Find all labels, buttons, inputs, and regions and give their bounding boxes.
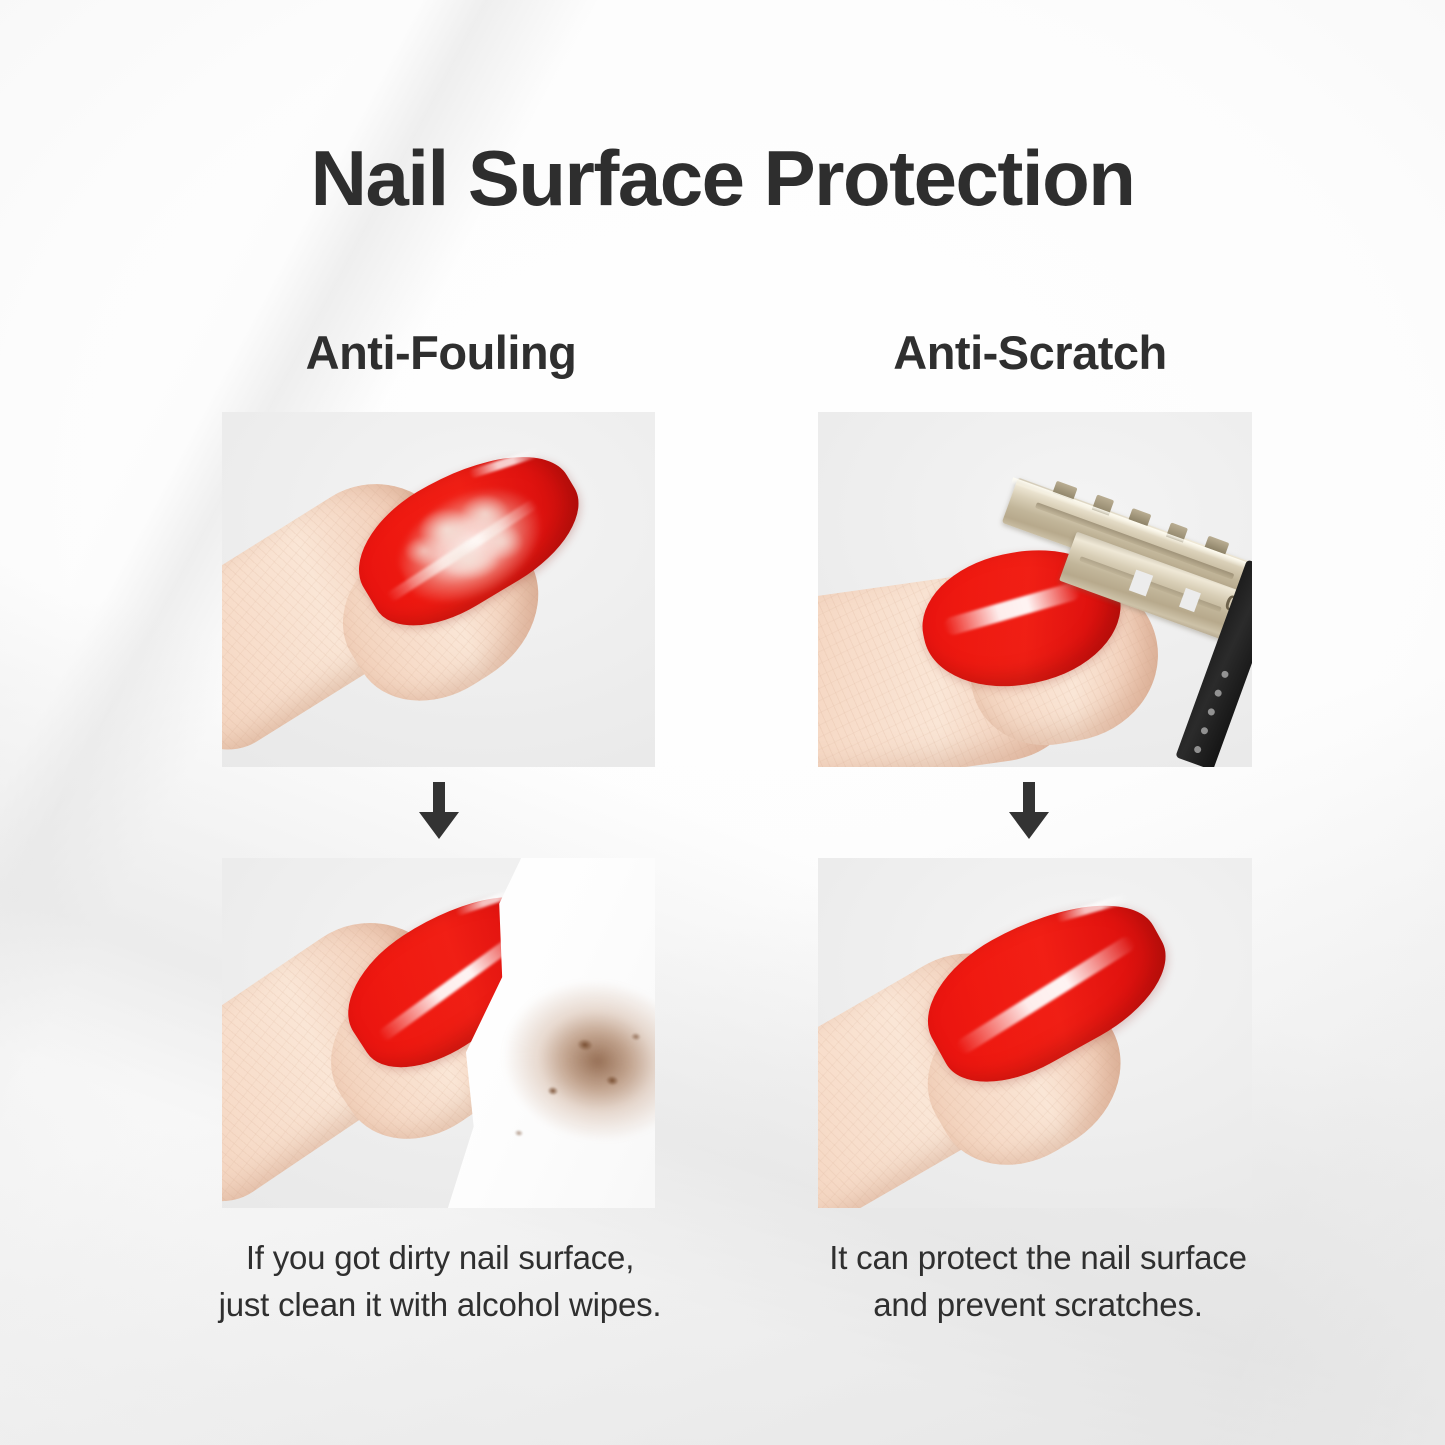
photo-anti-scratch-before: 100 — [818, 412, 1252, 767]
photo-anti-scratch-after — [818, 858, 1252, 1208]
column-heading-anti-fouling: Anti-Fouling — [181, 325, 701, 380]
caption-line: and prevent scratches. — [748, 1282, 1328, 1329]
caption-anti-fouling: If you got dirty nail surface, just clea… — [150, 1235, 730, 1329]
caption-line: just clean it with alcohol wipes. — [150, 1282, 730, 1329]
column-heading-anti-scratch: Anti-Scratch — [770, 325, 1290, 380]
dirt-smudge — [491, 967, 655, 1155]
infographic-page: Nail Surface Protection Anti-Fouling Ant… — [0, 0, 1445, 1445]
caption-line: If you got dirty nail surface, — [150, 1235, 730, 1282]
down-arrow-icon — [418, 782, 460, 845]
page-title: Nail Surface Protection — [0, 133, 1445, 224]
photo-anti-fouling-after — [222, 858, 655, 1208]
caption-line: It can protect the nail surface — [748, 1235, 1328, 1282]
photo-anti-fouling-before — [222, 412, 655, 767]
caption-anti-scratch: It can protect the nail surface and prev… — [748, 1235, 1328, 1329]
down-arrow-icon — [1008, 782, 1050, 845]
